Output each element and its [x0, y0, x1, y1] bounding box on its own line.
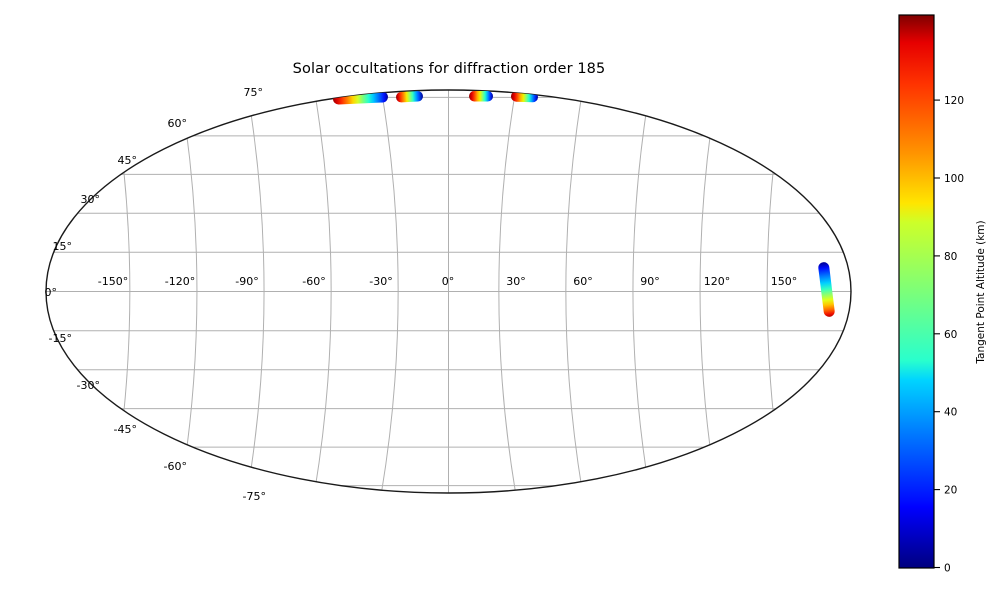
- colorbar-tick-labels: 0 20 40 60 80 100 120: [944, 95, 964, 574]
- colorbar-ticks: [934, 100, 940, 567]
- cb-tick-120: 120: [944, 95, 964, 107]
- cb-tick-20: 20: [944, 485, 957, 497]
- colorbar-axes: 0 20 40 60 80 100 120: [0, 0, 998, 592]
- colorbar-title-text: Tangent Point Altitude (km): [975, 220, 987, 363]
- colorbar-title: Tangent Point Altitude (km): [975, 149, 987, 292]
- figure-canvas: Solar occultations for diffraction order…: [0, 0, 998, 592]
- cb-tick-0: 0: [944, 563, 951, 575]
- cb-tick-100: 100: [944, 173, 964, 185]
- cb-tick-60: 60: [944, 329, 957, 341]
- colorbar-gradient[interactable]: [899, 15, 934, 568]
- cb-tick-80: 80: [944, 251, 957, 263]
- cb-tick-40: 40: [944, 407, 957, 419]
